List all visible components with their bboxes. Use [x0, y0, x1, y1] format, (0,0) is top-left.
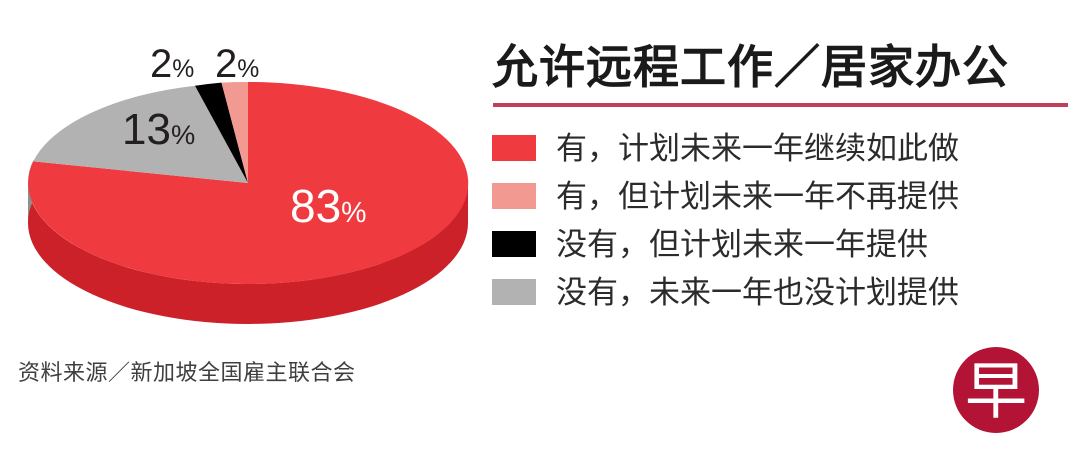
legend-item-red: 有，计划未来一年继续如此做 [492, 124, 1080, 172]
pie-label-pink: 2% [215, 44, 259, 84]
pie-3d-top-face [28, 82, 468, 284]
legend-swatch-gray [492, 279, 536, 305]
zaobao-logo-icon: 早 [951, 345, 1041, 435]
pie-label-red-pct: % [341, 197, 366, 229]
infographic-root: 2% 2% 13% 83% 资料来源／新加坡全国雇主联合会 允许远程工作／居家办… [0, 0, 1080, 471]
legend-swatch-pink [492, 183, 536, 209]
legend: 有，计划未来一年继续如此做 有，但计划未来一年不再提供 没有，但计划未来一年提供… [492, 124, 1080, 316]
pie-label-red-value: 83 [290, 180, 341, 232]
legend-item-black: 没有，但计划未来一年提供 [492, 220, 1080, 268]
pie-label-pink-value: 2 [215, 42, 237, 86]
legend-label-red: 有，计划未来一年继续如此做 [556, 133, 959, 164]
pie-chart-panel: 2% 2% 13% 83% [0, 0, 480, 471]
pie-label-gray: 13% [122, 108, 195, 152]
legend-swatch-red [492, 135, 536, 161]
pie-label-gray-pct: % [171, 119, 195, 150]
legend-label-black: 没有，但计划未来一年提供 [556, 229, 928, 260]
pie-label-black: 2% [150, 44, 194, 84]
legend-item-pink: 有，但计划未来一年不再提供 [492, 172, 1080, 220]
pie-label-black-pct: % [172, 56, 194, 83]
legend-label-pink: 有，但计划未来一年不再提供 [556, 181, 959, 212]
pie-label-black-value: 2 [150, 42, 172, 86]
legend-label-gray: 没有，未来一年也没计划提供 [556, 277, 959, 308]
page-title: 允许远程工作／居家办公 [492, 31, 1009, 97]
pie-label-pink-pct: % [237, 56, 259, 83]
legend-item-gray: 没有，未来一年也没计划提供 [492, 268, 1080, 316]
source-note: 资料来源／新加坡全国雇主联合会 [18, 355, 356, 387]
title-divider [493, 103, 1068, 107]
legend-swatch-black [492, 231, 536, 257]
logo-glyph: 早 [965, 355, 1027, 428]
pie-label-gray-value: 13 [122, 105, 171, 154]
pie-label-red: 83% [290, 183, 367, 229]
